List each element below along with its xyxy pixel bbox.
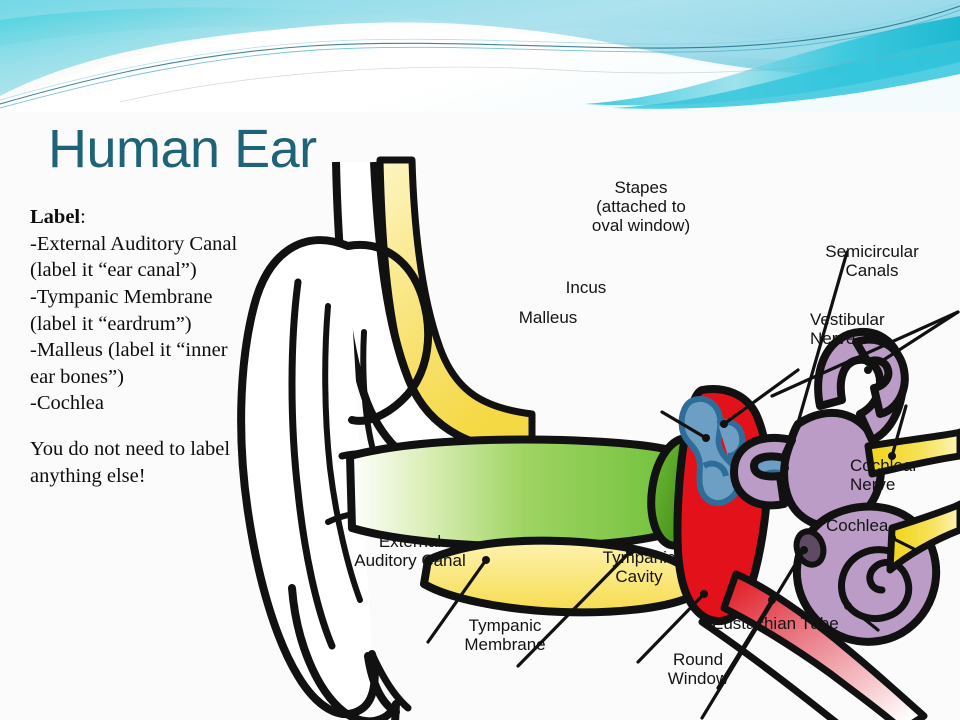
instructions-item: -Cochlea [30,390,252,417]
diagram-label-cochlea: Cochlea [826,516,926,535]
diagram-label-incus: Incus [550,278,622,297]
instructions-item: -External Auditory Canal (label it “ear … [30,231,252,284]
instructions-text-block: Label: -External Auditory Canal (label i… [30,204,252,489]
diagram-label-external-auditory-canal: External Auditory Canal [318,532,502,570]
diagram-label-semicircular-canals: Semicircular Canals [784,242,960,280]
diagram-label-tympanic-membrane: Tympanic Membrane [436,616,574,654]
diagram-label-cochlear-nerve: Cochlear Nerve [850,456,960,494]
instructions-heading: Label [30,206,80,228]
diagram-label-stapes: Stapes (attached to oval window) [566,178,716,235]
theme-header-banner [0,0,960,112]
diagram-label-malleus: Malleus [502,308,594,327]
human-ear-diagram: Stapes (attached to oval window) Semicir… [232,156,960,720]
instructions-heading-colon: : [80,206,86,228]
instructions-item: -Malleus (label it “inner ear bones”) [30,337,252,390]
diagram-label-round-window: Round Window [644,650,752,688]
diagram-label-vestibular-nerve: Vestibular Nerve [810,310,950,348]
diagram-label-tympanic-cavity: Tympanic Cavity [576,548,702,586]
instructions-heading-line: Label: [30,204,252,231]
instructions-closing: You do not need to label anything else! [30,436,252,489]
diagram-label-eustachian-tube: Eustachian Tube [712,614,902,633]
external-auditory-canal-shape [350,440,684,547]
instructions-item: -Tympanic Membrane (label it “eardrum”) [30,284,252,337]
slide-canvas: Human Ear Label: -External Auditory Cana… [0,0,960,720]
instructions-spacer [30,417,252,436]
